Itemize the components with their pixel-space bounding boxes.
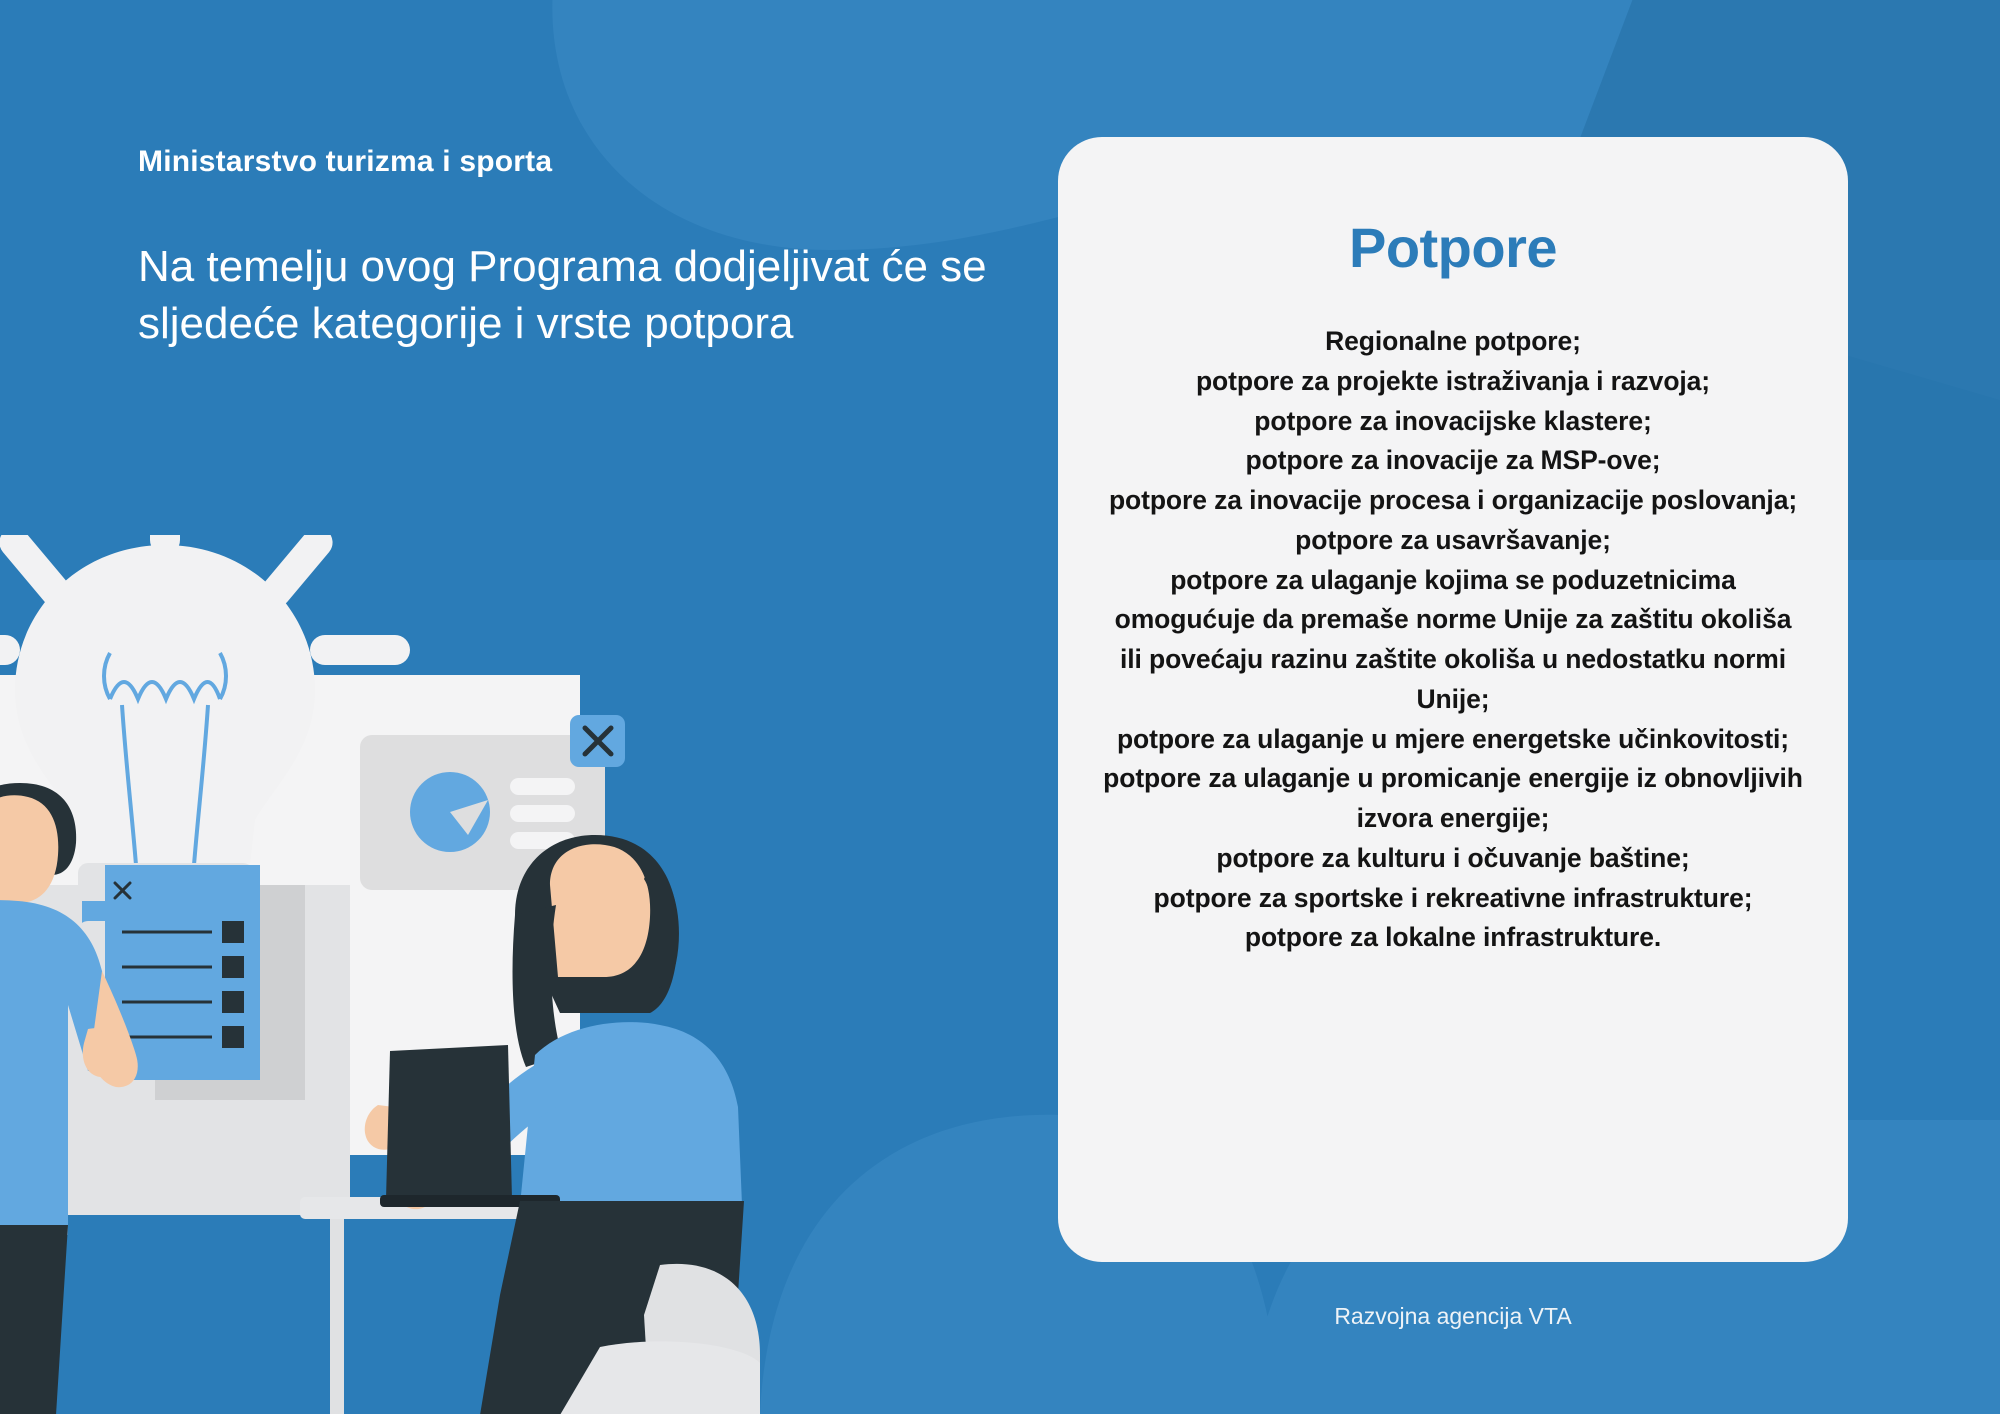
- list-item: potpore za inovacije procesa i organizac…: [1102, 481, 1804, 521]
- woman-face: [550, 844, 650, 977]
- list-item: Regionalne potpore;: [1102, 322, 1804, 362]
- desk-leg-left: [330, 1219, 344, 1414]
- list-item: potpore za lokalne infrastrukture.: [1102, 918, 1804, 958]
- woman-top: [520, 1022, 742, 1205]
- teamwork-idea-illustration: [0, 535, 760, 1414]
- bulb-ray-left: [0, 635, 20, 665]
- ministry-eyebrow: Ministarstvo turizma i sporta: [138, 145, 552, 179]
- list-item: potpore za inovacijske klastere;: [1102, 402, 1804, 442]
- card-title: Potpore: [1102, 215, 1804, 280]
- laptop-screen: [386, 1045, 512, 1199]
- potpore-list: Regionalne potpore; potpore za projekte …: [1102, 322, 1804, 958]
- list-item: potpore za usavršavanje;: [1102, 521, 1804, 561]
- left-column: Ministarstvo turizma i sporta Na temelju…: [0, 0, 1060, 1414]
- list-item: potpore za ulaganje kojima se poduzetnic…: [1102, 561, 1804, 720]
- footer-credit: Razvojna agencija VTA: [1058, 1303, 1848, 1330]
- window-line-1: [510, 778, 575, 795]
- bulb-ray-right: [310, 635, 410, 665]
- list-item: potpore za projekte istraživanja i razvo…: [1102, 362, 1804, 402]
- list-item: potpore za ulaganje u mjere energetske u…: [1102, 720, 1804, 760]
- list-item: potpore za inovacije za MSP-ove;: [1102, 441, 1804, 481]
- potpore-card: Potpore Regionalne potpore; potpore za p…: [1058, 137, 1848, 1262]
- page-title: Na temelju ovog Programa dodjeljivat će …: [138, 238, 998, 352]
- list-item: potpore za sportske i rekreativne infras…: [1102, 879, 1804, 919]
- window-line-2: [510, 805, 575, 822]
- list-item: potpore za ulaganje u promicanje energij…: [1102, 759, 1804, 839]
- list-item: potpore za kulturu i očuvanje baštine;: [1102, 839, 1804, 879]
- man-trousers: [0, 1225, 68, 1414]
